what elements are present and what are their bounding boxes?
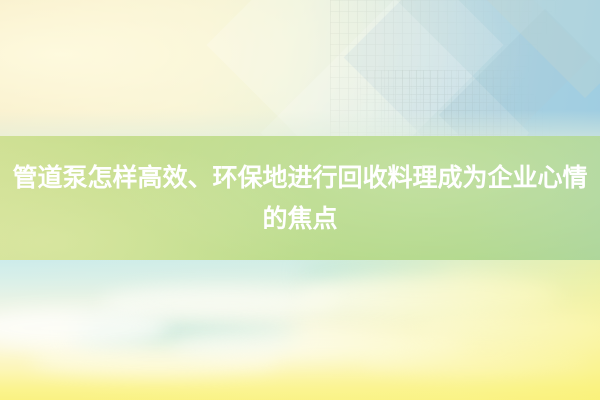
sky-decorative-band: [0, 260, 600, 400]
sky-warm-overlay: [0, 260, 600, 400]
title-banner: 管道泵怎样高效、环保地进行回收料理成为企业心情的焦点: [0, 136, 600, 260]
top-band-fade: [0, 110, 600, 136]
top-decorative-band: [0, 0, 600, 136]
page-title: 管道泵怎样高效、环保地进行回收料理成为企业心情的焦点: [0, 157, 600, 239]
article-banner: 管道泵怎样高效、环保地进行回收料理成为企业心情的焦点: [0, 0, 600, 400]
